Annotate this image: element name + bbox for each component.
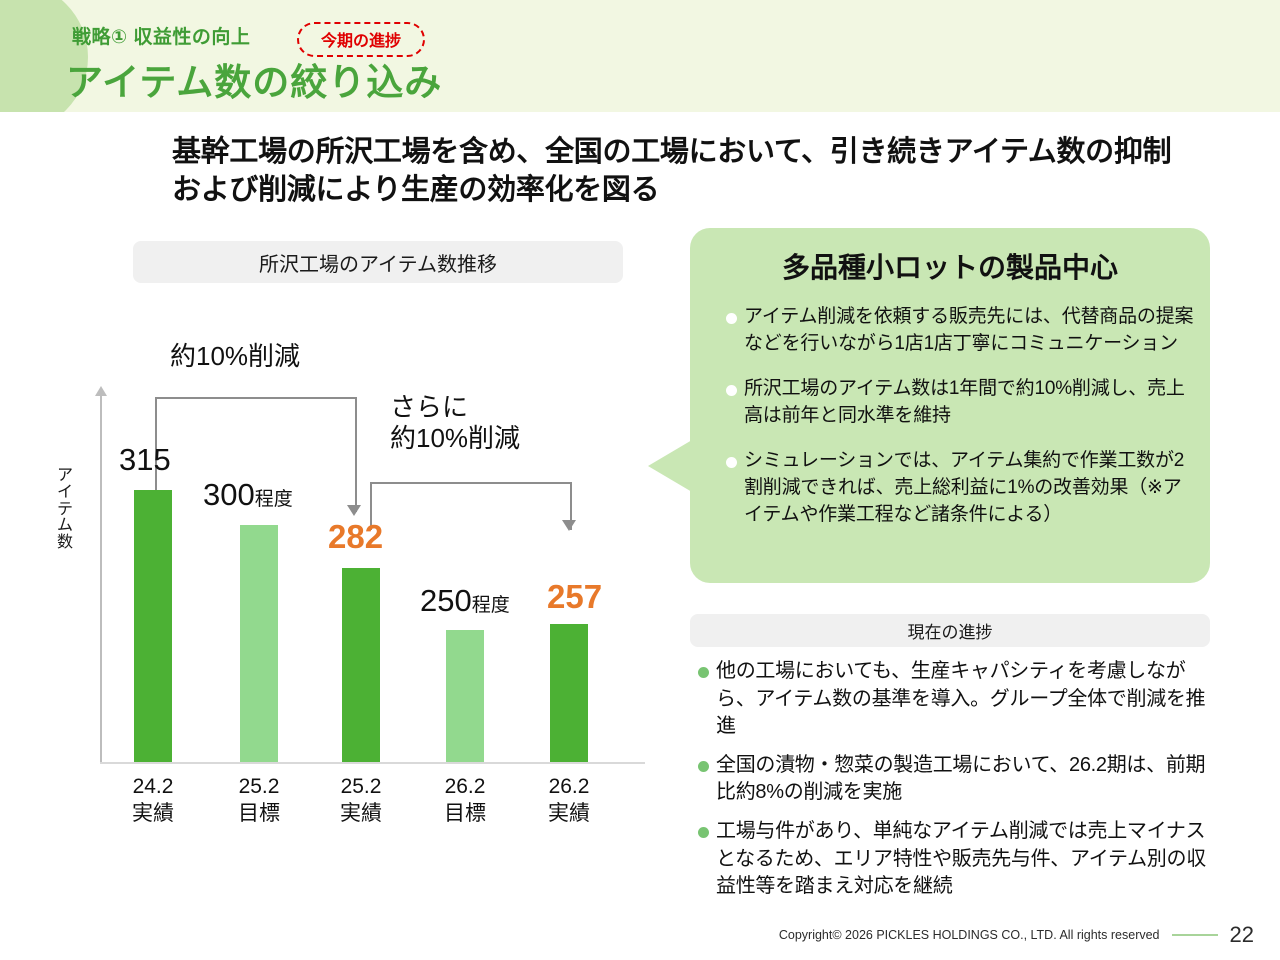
x-label-1: 25.2 目標	[204, 773, 314, 828]
x-label-period: 24.2	[98, 773, 208, 800]
bar-value-number: 300	[203, 477, 255, 512]
list-item: 工場与件があり、単純なアイテム削減では売上マイナスとなるため、エリア特性や販売先…	[690, 818, 1220, 901]
bar-value-24-2-actual: 315	[119, 442, 171, 478]
bar-24-2-actual	[134, 490, 172, 762]
x-label-kind: 実績	[514, 800, 624, 827]
bullet-icon	[690, 818, 716, 901]
x-label-period: 26.2	[514, 773, 624, 800]
bar-value-26-2-actual: 257	[547, 578, 602, 616]
callout-bullet-text: シミュレーションでは、アイテム集約で作業工数が2割削減できれば、売上総利益に1%…	[744, 448, 1196, 529]
x-label-kind: 目標	[204, 800, 314, 827]
callout-bullet-text: 所沢工場のアイテム数は1年間で約10%削減し、売上高は前年と同水準を維持	[744, 376, 1196, 430]
bar-value-number: 250	[420, 583, 472, 618]
progress-bullet-text: 他の工場においても、生産キャパシティを考慮しながら、アイテム数の基準を導入。グル…	[716, 658, 1220, 741]
y-axis-label: アイテム数	[52, 468, 78, 552]
x-label-kind: 目標	[410, 800, 520, 827]
footer-divider	[1172, 934, 1218, 936]
bar-value-suffix: 程度	[255, 489, 293, 510]
x-label-0: 24.2 実績	[98, 773, 208, 828]
list-item: アイテム削減を依頼する販売先には、代替商品の提案などを行いながら1店1店丁寧にコ…	[718, 304, 1196, 358]
annotation-arrowhead-1	[347, 505, 361, 516]
bullet-icon	[690, 752, 716, 807]
x-label-kind: 実績	[98, 800, 208, 827]
progress-bullet-list: 他の工場においても、生産キャパシティを考慮しながら、アイテム数の基準を導入。グル…	[690, 658, 1220, 912]
bar-25-2-target	[240, 525, 278, 762]
bar-value-number: 257	[547, 578, 602, 615]
bullet-icon	[718, 448, 744, 529]
x-label-4: 26.2 実績	[514, 773, 624, 828]
x-axis-line	[100, 762, 645, 764]
annotation-bracket-2	[370, 482, 572, 530]
annotation-reduction-1: 約10%削減	[170, 341, 300, 372]
x-label-period: 26.2	[410, 773, 520, 800]
page-number: 22	[1230, 922, 1254, 948]
slide-footer: Copyright© 2026 PICKLES HOLDINGS CO., LT…	[0, 918, 1280, 952]
annotation-arrowhead-2	[562, 520, 576, 531]
bar-value-suffix: 程度	[472, 595, 510, 616]
y-axis-line	[100, 392, 102, 764]
list-item: 所沢工場のアイテム数は1年間で約10%削減し、売上高は前年と同水準を維持	[718, 376, 1196, 430]
x-label-period: 25.2	[204, 773, 314, 800]
callout-pointer	[648, 440, 692, 492]
callout-box: 多品種小ロットの製品中心 アイテム削減を依頼する販売先には、代替商品の提案などを…	[690, 228, 1210, 583]
item-count-bar-chart: アイテム数 約10%削減 さらに 約10%削減 315 300程度 282 25…	[0, 0, 680, 960]
progress-bullet-text: 工場与件があり、単純なアイテム削減では売上マイナスとなるため、エリア特性や販売先…	[716, 818, 1220, 901]
x-label-kind: 実績	[306, 800, 416, 827]
callout-bullet-text: アイテム削減を依頼する販売先には、代替商品の提案などを行いながら1店1店丁寧にコ…	[744, 304, 1196, 358]
copyright-text: Copyright© 2026 PICKLES HOLDINGS CO., LT…	[779, 928, 1160, 942]
bar-26-2-target	[446, 630, 484, 762]
bullet-icon	[718, 304, 744, 358]
bar-26-2-actual	[550, 624, 588, 762]
list-item: シミュレーションでは、アイテム集約で作業工数が2割削減できれば、売上総利益に1%…	[718, 448, 1196, 529]
annotation-reduction-2: さらに 約10%削減	[390, 392, 520, 454]
callout-title: 多品種小ロットの製品中心	[690, 246, 1210, 286]
bar-value-number: 315	[119, 442, 171, 477]
callout-bullet-list: アイテム削減を依頼する販売先には、代替商品の提案などを行いながら1店1店丁寧にコ…	[718, 304, 1196, 547]
list-item: 全国の漬物・惣菜の製造工場において、26.2期は、前期比約8%の削減を実施	[690, 752, 1220, 807]
progress-bullet-text: 全国の漬物・惣菜の製造工場において、26.2期は、前期比約8%の削減を実施	[716, 752, 1220, 807]
bar-25-2-actual	[342, 568, 380, 762]
bullet-icon	[690, 658, 716, 741]
bar-value-number: 282	[328, 518, 383, 555]
x-label-3: 26.2 目標	[410, 773, 520, 828]
progress-title-chip: 現在の進捗	[690, 614, 1210, 647]
x-label-2: 25.2 実績	[306, 773, 416, 828]
bar-value-25-2-target: 300程度	[203, 477, 293, 513]
bar-value-26-2-target: 250程度	[420, 583, 510, 619]
list-item: 他の工場においても、生産キャパシティを考慮しながら、アイテム数の基準を導入。グル…	[690, 658, 1220, 741]
bar-value-25-2-actual: 282	[328, 518, 383, 556]
bullet-icon	[718, 376, 744, 430]
x-label-period: 25.2	[306, 773, 416, 800]
